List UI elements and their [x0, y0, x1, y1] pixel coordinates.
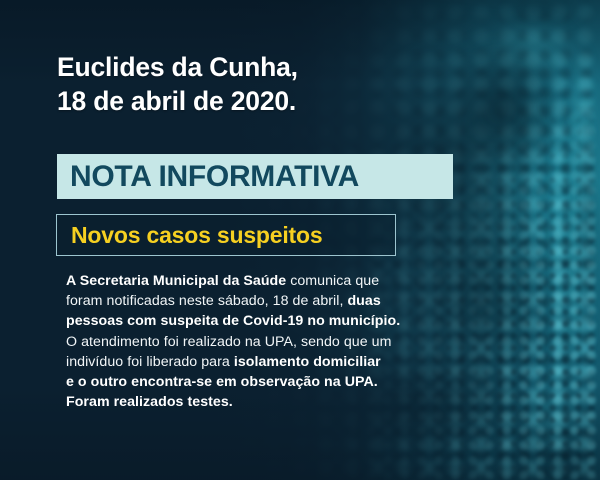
- novos-casos-suspeitos-banner: Novos casos suspeitos: [56, 214, 396, 256]
- body-text-line: indivíduo foi liberado para isolamento d…: [66, 352, 406, 372]
- body-text-run: comunica que: [286, 273, 379, 289]
- body-text-line: Foram realizados testes.: [66, 392, 406, 412]
- body-text-line: pessoas com suspeita de Covid-19 no muni…: [66, 311, 406, 331]
- body-text-emphasis: e o outro encontra-se em observação na U…: [66, 374, 378, 390]
- poster-body-text: A Secretaria Municipal da Saúde comunica…: [66, 271, 406, 412]
- body-text-emphasis: A Secretaria Municipal da Saúde: [66, 273, 286, 289]
- informative-note-poster: Euclides da Cunha, 18 de abril de 2020. …: [0, 0, 600, 480]
- body-text-emphasis: pessoas com suspeita de Covid-19 no muni…: [66, 313, 400, 329]
- body-text-run: indivíduo foi liberado para: [66, 354, 234, 370]
- body-text-line: A Secretaria Municipal da Saúde comunica…: [66, 271, 406, 291]
- body-text-emphasis: isolamento domiciliar: [234, 354, 381, 370]
- novos-casos-suspeitos-label: Novos casos suspeitos: [71, 224, 322, 247]
- poster-content: Euclides da Cunha, 18 de abril de 2020. …: [0, 0, 600, 480]
- body-text-line: foram notificadas neste sábado, 18 de ab…: [66, 291, 406, 311]
- body-text-run: O atendimento foi realizado na UPA, send…: [66, 334, 392, 350]
- body-text-line: e o outro encontra-se em observação na U…: [66, 372, 406, 392]
- body-text-emphasis: duas: [347, 293, 380, 309]
- nota-informativa-label: NOTA INFORMATIVA: [70, 162, 359, 192]
- body-text-line: O atendimento foi realizado na UPA, send…: [66, 332, 406, 352]
- body-text-run: foram notificadas neste sábado, 18 de ab…: [66, 293, 347, 309]
- nota-informativa-banner: NOTA INFORMATIVA: [57, 154, 453, 199]
- body-text-emphasis: Foram realizados testes.: [66, 394, 233, 410]
- poster-headline: Euclides da Cunha, 18 de abril de 2020.: [57, 50, 298, 118]
